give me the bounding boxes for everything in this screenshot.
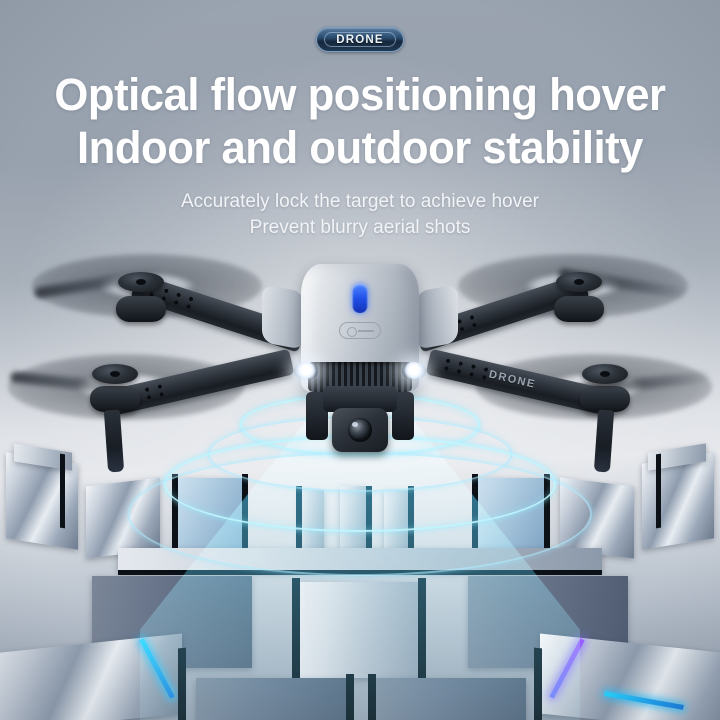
subtitle-group: Accurately lock the target to achieve ho… [0, 189, 720, 241]
landing-leg-right [594, 410, 614, 473]
brand-badge-label: DRONE [336, 34, 384, 46]
brand-badge-inner: DRONE [324, 32, 396, 47]
headlight-left-icon [294, 362, 318, 380]
propeller-hub [556, 272, 602, 292]
motor-front-right [554, 296, 604, 322]
motor-rear-left [90, 386, 140, 412]
propeller-hub [582, 364, 628, 384]
headline-line-1: Optical flow positioning hover [11, 68, 709, 121]
arm-brand-label: DRONE [488, 369, 537, 391]
brand-badge: DRONE [316, 27, 404, 52]
subtitle-line-2: Prevent blurry aerial shots [0, 215, 720, 241]
headline-group: Optical flow positioning hover Indoor an… [0, 68, 720, 174]
drone-product: DRONE [60, 258, 660, 488]
propeller-hub [118, 272, 164, 292]
body-shoulder-right [416, 284, 458, 349]
camera-lens-icon [348, 418, 372, 442]
propeller-hub [92, 364, 138, 384]
headline-line-2: Indoor and outdoor stability [11, 121, 709, 174]
motor-rear-right [580, 386, 630, 412]
motor-front-left [116, 296, 166, 322]
body-shoulder-left [262, 284, 304, 349]
subtitle-line-1: Accurately lock the target to achieve ho… [0, 189, 720, 215]
drone-logo-emblem [339, 322, 381, 339]
promo-banner: DRONE DRONE [0, 0, 720, 720]
headlight-right-icon [402, 362, 426, 380]
camera-module [332, 408, 388, 452]
status-led [353, 284, 368, 313]
